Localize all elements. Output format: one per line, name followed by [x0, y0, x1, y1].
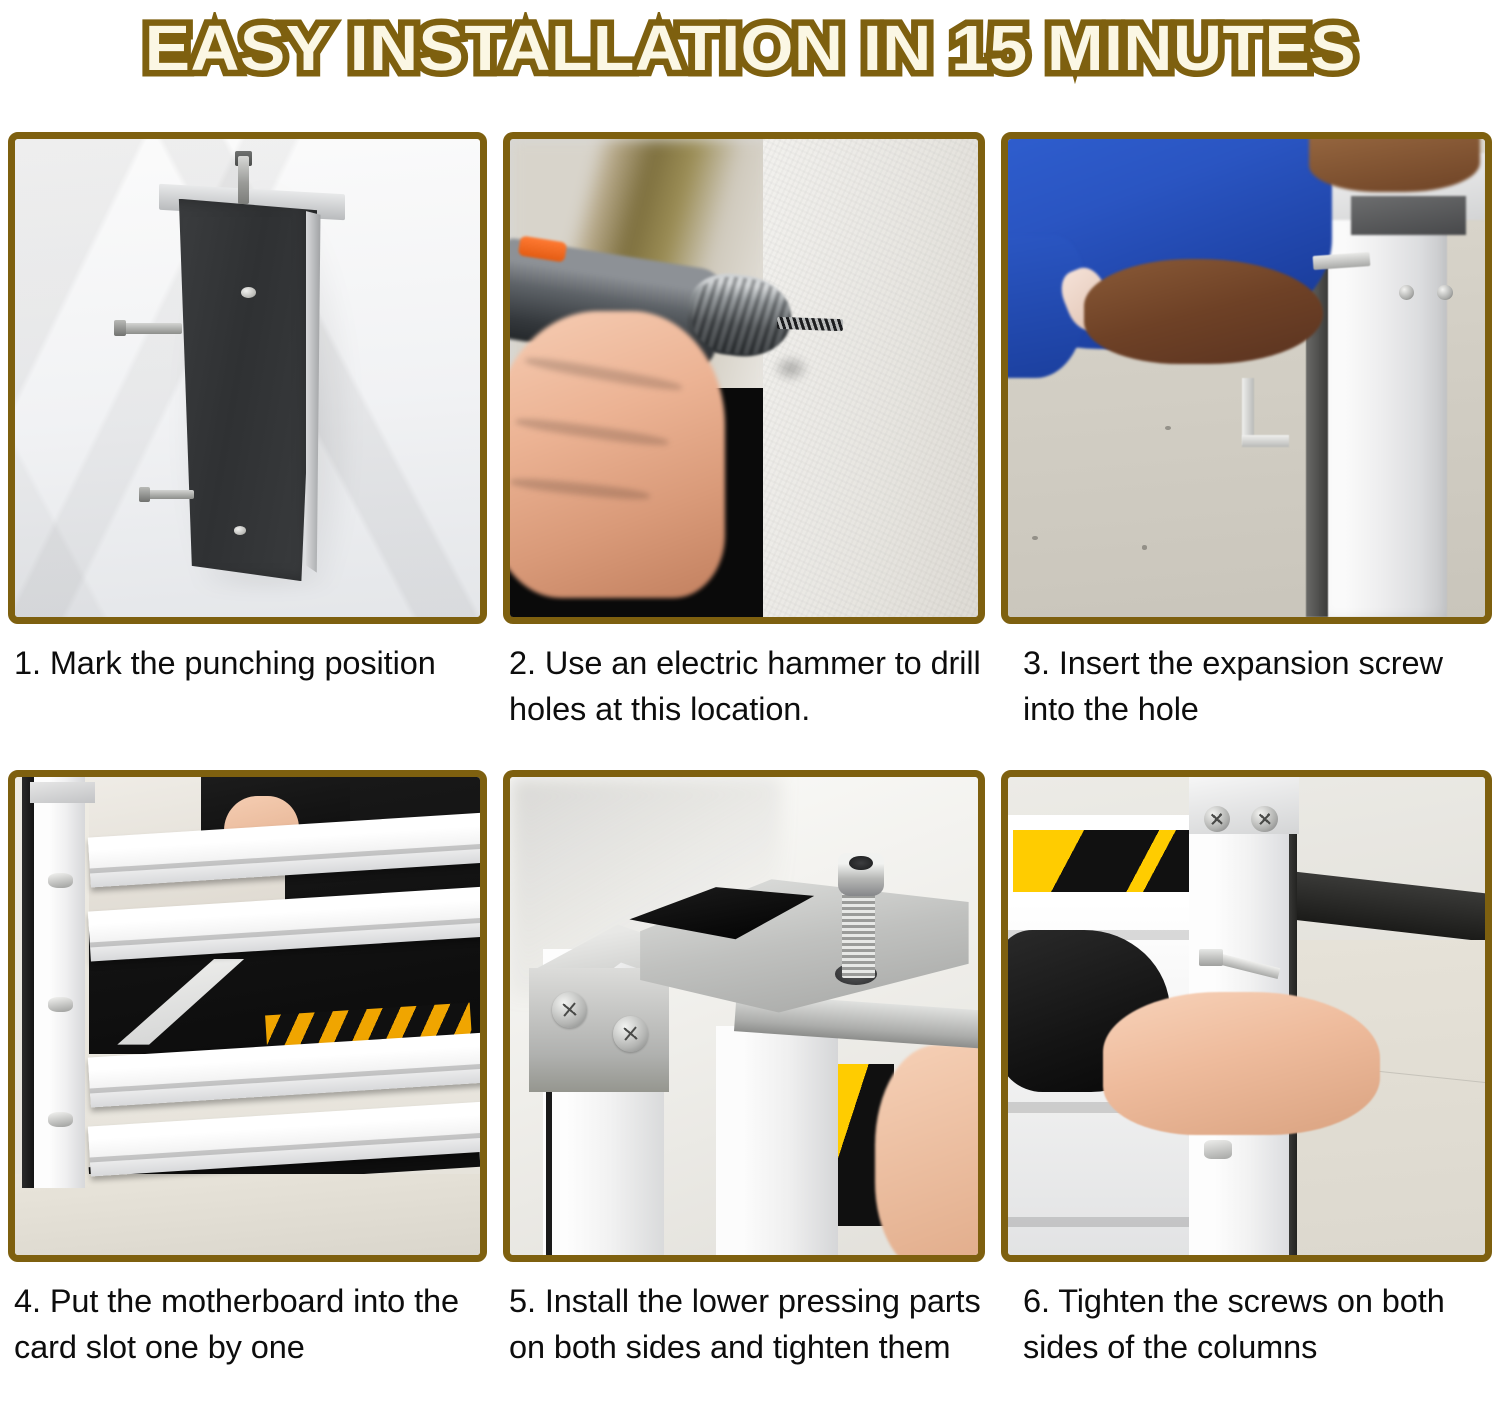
step-caption-5: 5. Install the lower pressing parts on b… [503, 1278, 985, 1370]
hand-holding-drill [503, 311, 725, 598]
step-card-2: 2. Use an electric hammer to drill holes… [495, 132, 993, 770]
step-image-2 [503, 132, 985, 624]
step-image-1 [8, 132, 487, 624]
hex-socket-hole [849, 856, 872, 870]
scene-expansion-screw [1008, 139, 1485, 617]
scene-pressing-part-clamp [510, 777, 978, 1255]
threaded-bolt-shaft [842, 892, 875, 978]
step-card-5: 5. Install the lower pressing parts on b… [495, 770, 993, 1403]
step-card-4: 4. Put the motherboard into the card slo… [0, 770, 495, 1403]
column-screw-2 [1251, 806, 1277, 832]
drill-dust [772, 354, 809, 383]
scene-mounting-plate [15, 139, 480, 617]
hand-supporting-part [875, 1045, 985, 1262]
step-caption-2: 2. Use an electric hammer to drill holes… [503, 640, 985, 732]
phillips-cross-icon [1207, 809, 1226, 828]
steps-grid: 1. Mark the punching position [0, 132, 1500, 1403]
step-card-3: 3. Insert the expansion screw into the h… [993, 132, 1500, 770]
column-screw-1 [1204, 806, 1230, 832]
step-image-4 [8, 770, 487, 1262]
side-bolt-upper [117, 323, 182, 334]
floor-debris-3 [1032, 536, 1038, 540]
phillips-cross-icon [558, 998, 582, 1022]
step-caption-3: 3. Insert the expansion screw into the h… [1001, 640, 1492, 732]
scene-tighten-column-screws [1008, 777, 1485, 1255]
column-dark-plate [1351, 196, 1465, 234]
panel-seam-3 [1008, 1217, 1199, 1228]
allen-key-horizontal [1242, 435, 1290, 446]
column-screw-2 [1437, 285, 1452, 300]
phillips-cross-icon [1255, 809, 1274, 828]
step-caption-4: 4. Put the motherboard into the card slo… [8, 1278, 487, 1370]
plate-hole-upper [241, 287, 256, 298]
page-header: EASY INSTALLATION IN 15 MINUTES [0, 2, 1500, 94]
page-title: EASY INSTALLATION IN 15 MINUTES [144, 16, 1355, 80]
clamp-bracket-face [529, 968, 669, 1092]
step-caption-6: 6. Tighten the screws on both sides of t… [1001, 1278, 1492, 1370]
hand-tightening [1103, 992, 1380, 1135]
slot-peg-2 [48, 997, 74, 1012]
bracket-screw-1 [552, 992, 587, 1028]
side-bolt-upper-head [114, 320, 126, 336]
floor-surface [15, 1174, 480, 1255]
side-bolt-lower [143, 490, 194, 499]
dark-mounting-plate [173, 199, 317, 581]
white-column-secondary [716, 1026, 838, 1255]
scene-boards-into-slots [15, 777, 480, 1255]
installation-guide-page: EASY INSTALLATION IN 15 MINUTES [0, 0, 1500, 1403]
phillips-cross-icon [619, 1022, 643, 1046]
step-card-6: 6. Tighten the screws on both sides of t… [993, 770, 1500, 1403]
step-image-6 [1001, 770, 1492, 1262]
side-bolt-lower-head [139, 487, 150, 502]
worker-hand-upper [1309, 132, 1481, 192]
screwdriver-tip [1199, 949, 1223, 966]
bracket-screw-2 [613, 1016, 648, 1052]
plate-hole-lower [234, 526, 246, 535]
hazard-stripe-tape [1013, 830, 1189, 892]
step-image-5 [503, 770, 985, 1262]
column-screw-lower [1204, 1140, 1233, 1159]
scene-drilling-wall [510, 139, 978, 617]
slot-peg-1 [48, 873, 74, 888]
step-card-1: 1. Mark the punching position [0, 132, 495, 770]
column-top-cap [30, 782, 95, 804]
floor-debris-2 [1142, 545, 1148, 549]
top-bolt-shaft [238, 156, 249, 204]
worker-arm [1084, 259, 1323, 364]
step-caption-1: 1. Mark the punching position [8, 640, 487, 686]
step-image-3 [1001, 132, 1492, 624]
slot-peg-3 [48, 1112, 74, 1127]
